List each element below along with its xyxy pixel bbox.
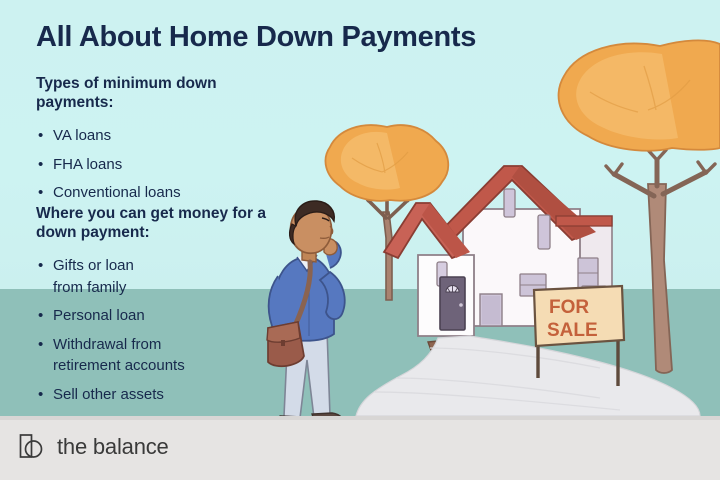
footer-divider — [0, 416, 720, 420]
brand-name: the balance — [57, 434, 169, 460]
brand-logo[interactable]: the balance — [18, 432, 169, 462]
list-item-label-cont: from family — [51, 277, 288, 299]
list-item: Withdrawal from retirement accounts — [38, 334, 288, 377]
list-item: FHA loans — [38, 154, 288, 176]
list-item-label: VA loans — [51, 125, 288, 147]
balance-b-logo-icon — [18, 432, 48, 462]
bullet-list-types: VA loans FHA loans Conventional loans — [38, 125, 288, 211]
list-item: Sell other assets — [38, 384, 288, 406]
infographic-canvas: FOR SALE — [0, 0, 720, 480]
list-item-label-cont: retirement accounts — [51, 355, 288, 377]
list-item-label: FHA loans — [51, 154, 288, 176]
list-item-label: Sell other assets — [51, 384, 288, 406]
list-item-label: Gifts or loan — [51, 255, 288, 277]
list-item-label: Personal loan — [51, 305, 288, 327]
section-heading-types: Types of minimum down payments: — [36, 74, 276, 112]
list-item: VA loans — [38, 125, 288, 147]
list-item-label: Withdrawal from — [51, 334, 288, 356]
list-item-label: Conventional loans — [51, 182, 288, 204]
list-item: Gifts or loan from family — [38, 255, 288, 298]
bullet-list-sources: Gifts or loan from family Personal loan … — [38, 255, 288, 412]
list-item: Conventional loans — [38, 182, 288, 204]
page-title: All About Home Down Payments — [36, 21, 476, 54]
list-item: Personal loan — [38, 305, 288, 327]
section-heading-sources: Where you can get money for a down payme… — [36, 204, 276, 242]
